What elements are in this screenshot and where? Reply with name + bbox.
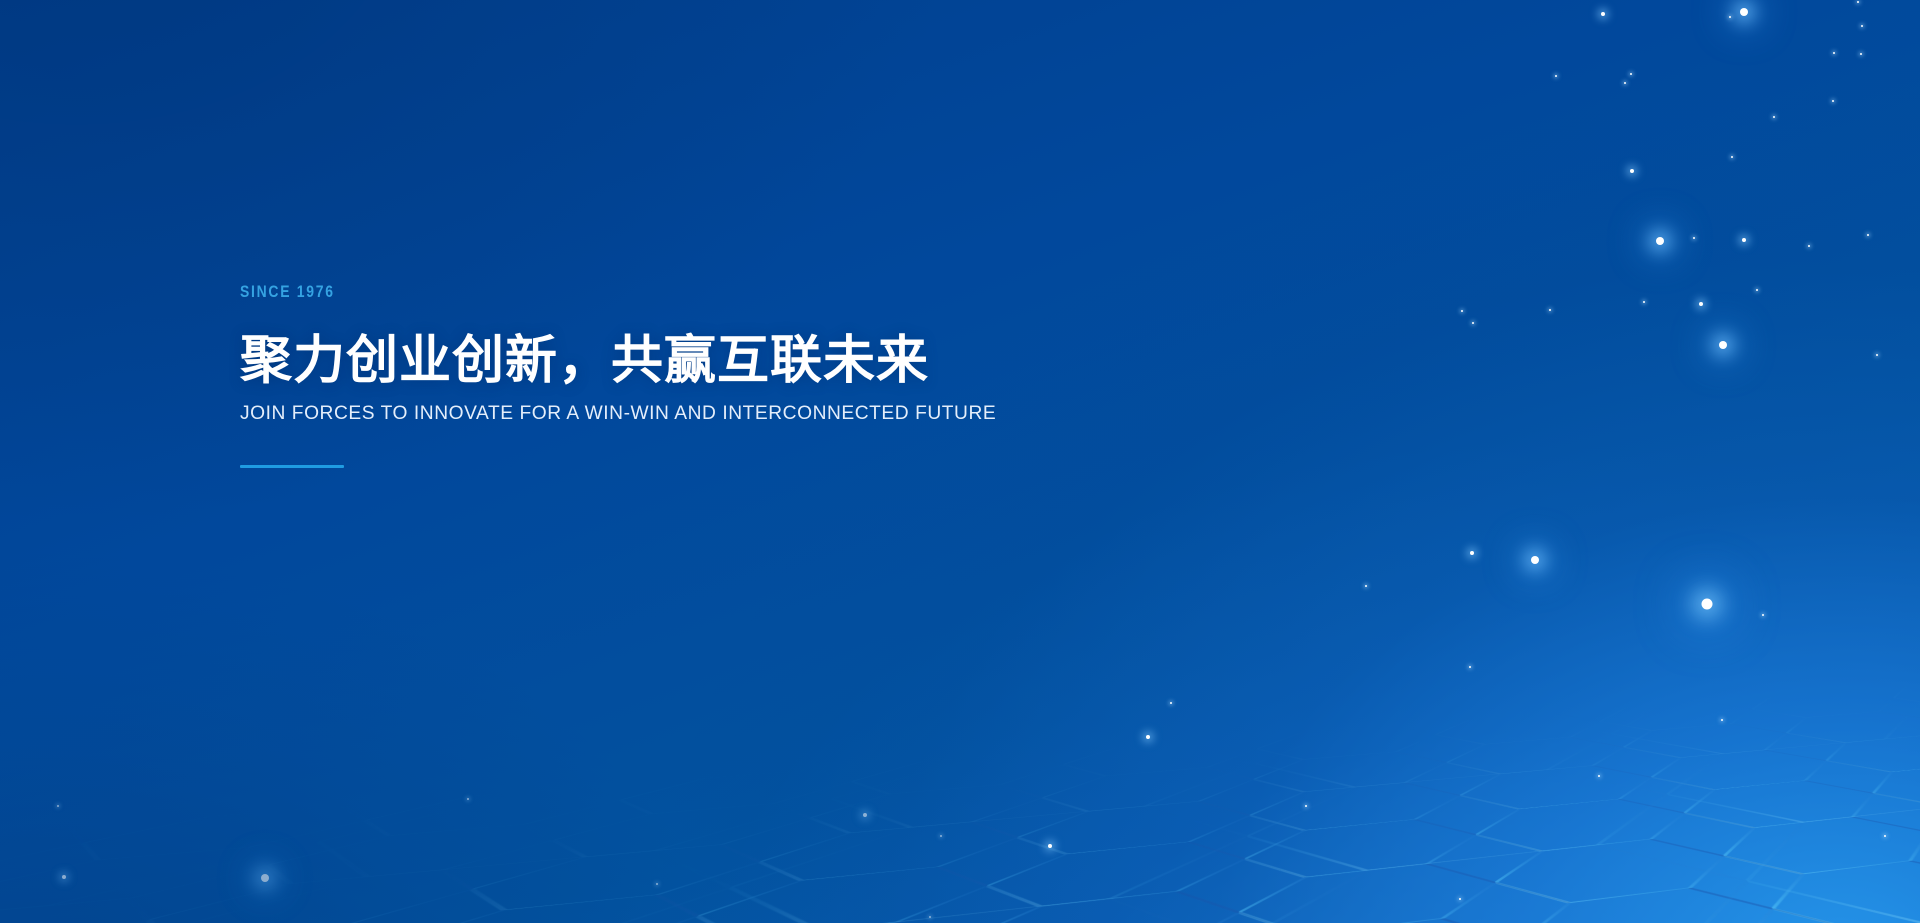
eyebrow-since-label: SINCE 1976: [240, 283, 870, 300]
hero-copy-block: SINCE 1976 聚力创业创新，共赢互联未来 JOIN FORCES TO …: [240, 283, 1008, 468]
page-subtitle: JOIN FORCES TO INNOVATE FOR A WIN-WIN AN…: [240, 401, 996, 425]
hero-banner: SINCE 1976 聚力创业创新，共赢互联未来 JOIN FORCES TO …: [0, 0, 1920, 923]
accent-divider: [240, 465, 344, 468]
page-title: 聚力创业创新，共赢互联未来: [240, 334, 1008, 389]
